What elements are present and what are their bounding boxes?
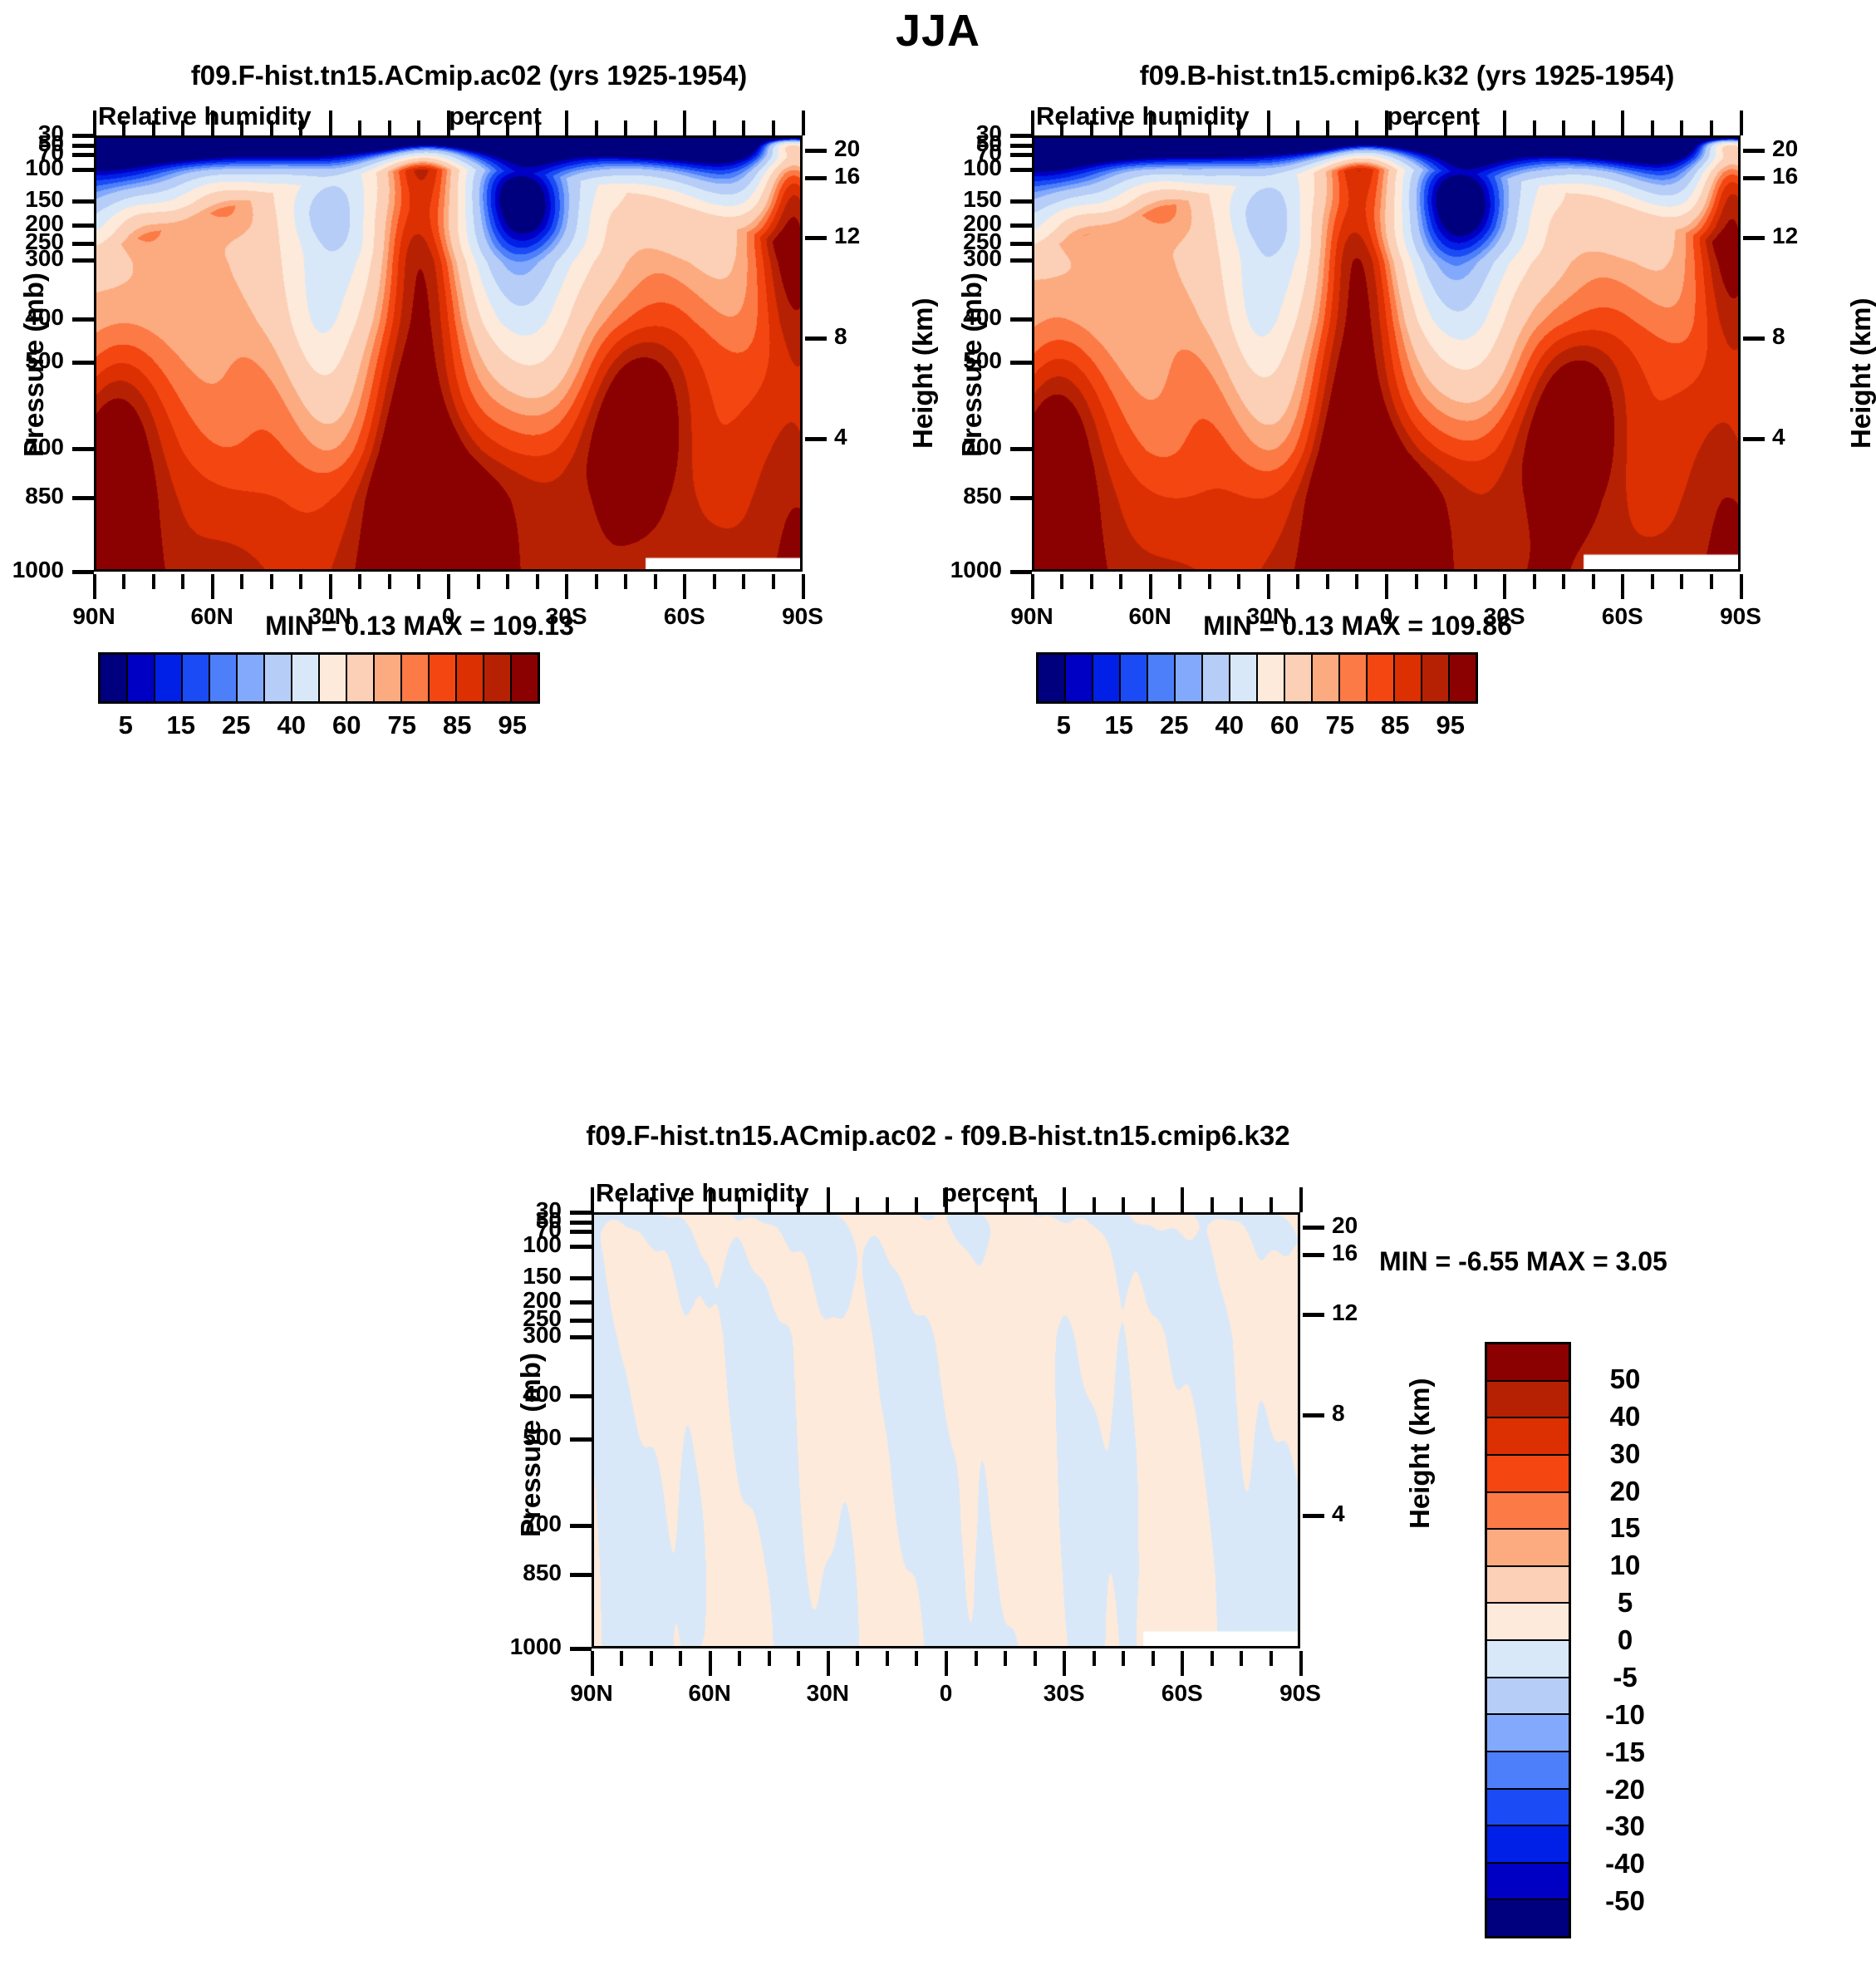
colorbar-cell[interactable] bbox=[1203, 655, 1230, 701]
bottom-tick bbox=[768, 1651, 771, 1666]
panel-right-variable-label: Relative humidity bbox=[1036, 101, 1250, 131]
top-tick bbox=[240, 120, 243, 135]
top-tick bbox=[1208, 120, 1211, 135]
bottom-tick bbox=[1562, 574, 1565, 589]
colorbar-cell[interactable] bbox=[101, 655, 128, 701]
top-tick bbox=[742, 120, 745, 135]
bottom-tick bbox=[654, 574, 657, 589]
latitude-tick-label: 60S bbox=[1124, 1682, 1240, 1705]
colorbar-cell[interactable] bbox=[1487, 1864, 1569, 1901]
pressure-tick bbox=[570, 1300, 592, 1304]
top-tick bbox=[1093, 1197, 1096, 1212]
colorbar-cell[interactable] bbox=[1487, 1456, 1569, 1493]
panel-right-colorbar[interactable] bbox=[1036, 652, 1478, 704]
top-tick bbox=[856, 1197, 859, 1212]
pressure-tick bbox=[72, 361, 94, 365]
bottom-tick bbox=[1444, 574, 1447, 589]
top-tick bbox=[1063, 1187, 1066, 1212]
colorbar-tick-label: 75 bbox=[1326, 710, 1354, 740]
pressure-tick bbox=[72, 144, 94, 148]
panel-left-variable-label: Relative humidity bbox=[98, 101, 312, 131]
height-tick-label: 8 bbox=[1772, 325, 1785, 348]
bottom-tick bbox=[211, 574, 214, 599]
panel-left-units-label: percent bbox=[449, 101, 542, 131]
top-tick bbox=[1031, 111, 1034, 135]
pressure-tick-label: 150 bbox=[0, 188, 64, 211]
top-tick bbox=[1296, 120, 1299, 135]
colorbar-cell[interactable] bbox=[484, 655, 512, 701]
bottom-tick bbox=[591, 1651, 594, 1676]
colorbar-cell[interactable] bbox=[183, 655, 210, 701]
panel-right-yaxis-title: Pressure (mb) bbox=[956, 273, 988, 457]
colorbar-tick-label: 95 bbox=[498, 710, 527, 740]
pressure-tick bbox=[1010, 144, 1032, 148]
bottom-tick bbox=[1004, 1651, 1007, 1666]
latitude-tick-label: 90N bbox=[533, 1682, 650, 1705]
height-tick-label: 4 bbox=[834, 425, 847, 449]
panel-left-colorbar[interactable] bbox=[98, 652, 540, 704]
latitude-tick-label: 0 bbox=[888, 1682, 1004, 1705]
panel-left-minmax: MIN = 0.13 MAX = 109.13 bbox=[0, 611, 839, 641]
colorbar-tick-label: 85 bbox=[443, 710, 471, 740]
bottom-tick bbox=[240, 574, 243, 589]
pressure-tick bbox=[72, 570, 94, 574]
panel-difference-units-label: percent bbox=[941, 1178, 1034, 1208]
top-tick bbox=[1680, 120, 1683, 135]
pressure-tick bbox=[1010, 258, 1032, 263]
latitude-tick-label: 90S bbox=[1242, 1682, 1358, 1705]
top-tick bbox=[358, 120, 361, 135]
height-tick-label: 4 bbox=[1772, 425, 1785, 449]
colorbar-cell[interactable] bbox=[1487, 1752, 1569, 1790]
pressure-tick bbox=[570, 1319, 592, 1323]
top-tick bbox=[1651, 120, 1654, 135]
top-tick bbox=[506, 120, 509, 135]
colorbar-tick-label: -15 bbox=[1579, 1737, 1671, 1768]
colorbar-cell[interactable] bbox=[128, 655, 155, 701]
top-tick bbox=[772, 120, 775, 135]
colorbar-cell[interactable] bbox=[1487, 1826, 1569, 1864]
colorbar-cell[interactable] bbox=[1093, 655, 1121, 701]
panel-difference-y2axis-title: Height (km) bbox=[1404, 1378, 1436, 1530]
height-tick-label: 16 bbox=[1332, 1241, 1358, 1265]
bottom-tick bbox=[1149, 574, 1152, 599]
colorbar-tick-label: 15 bbox=[167, 710, 195, 740]
bottom-tick bbox=[1208, 574, 1211, 589]
top-tick bbox=[945, 1187, 948, 1212]
colorbar-cell[interactable] bbox=[430, 655, 457, 701]
pressure-tick bbox=[570, 1647, 592, 1651]
top-tick bbox=[709, 1187, 712, 1212]
pressure-tick bbox=[570, 1276, 592, 1280]
bottom-tick bbox=[827, 1651, 830, 1676]
top-tick bbox=[1152, 1197, 1155, 1212]
top-tick bbox=[654, 120, 657, 135]
height-tick bbox=[1743, 149, 1765, 153]
bottom-tick bbox=[1152, 1651, 1155, 1666]
bottom-tick bbox=[1034, 1651, 1037, 1666]
top-tick bbox=[802, 111, 805, 135]
height-tick-label: 16 bbox=[1772, 165, 1798, 188]
panel-right-contour-canvas bbox=[1034, 138, 1741, 572]
bottom-tick bbox=[683, 574, 686, 599]
panel-right-y2axis-title: Height (km) bbox=[1845, 298, 1876, 450]
colorbar-tick-label: 60 bbox=[1270, 710, 1299, 740]
bottom-tick bbox=[1122, 1651, 1125, 1666]
panel-right-minmax: MIN = 0.13 MAX = 109.86 bbox=[938, 611, 1777, 641]
bottom-tick bbox=[624, 574, 627, 589]
colorbar-cell[interactable] bbox=[512, 655, 538, 701]
top-tick bbox=[738, 1197, 741, 1212]
top-tick bbox=[565, 111, 568, 135]
top-tick bbox=[417, 120, 420, 135]
top-tick bbox=[122, 120, 125, 135]
colorbar-cell[interactable] bbox=[1487, 1604, 1569, 1641]
colorbar-cell[interactable] bbox=[292, 655, 320, 701]
height-tick-label: 8 bbox=[834, 325, 847, 348]
top-tick bbox=[93, 111, 96, 135]
height-tick bbox=[805, 149, 827, 153]
bottom-tick bbox=[1474, 574, 1477, 589]
panel-difference-minmax: MIN = -6.55 MAX = 3.05 bbox=[1379, 1246, 1861, 1277]
pressure-tick bbox=[72, 317, 94, 322]
pressure-tick bbox=[570, 1230, 592, 1234]
colorbar-cell[interactable] bbox=[1487, 1900, 1569, 1936]
colorbar-cell[interactable] bbox=[1487, 1567, 1569, 1604]
panel-right-units-label: percent bbox=[1387, 101, 1480, 131]
pressure-tick bbox=[1010, 496, 1032, 500]
latitude-tick-label: 60N bbox=[651, 1682, 768, 1705]
top-tick bbox=[1299, 1187, 1303, 1212]
bottom-tick bbox=[802, 574, 805, 599]
colorbar-tick-label: -50 bbox=[1579, 1885, 1671, 1917]
colorbar-tick-label: 5 bbox=[1057, 710, 1071, 740]
bottom-tick bbox=[620, 1651, 623, 1666]
bottom-tick bbox=[1296, 574, 1299, 589]
top-tick bbox=[1178, 120, 1181, 135]
pressure-tick bbox=[72, 258, 94, 263]
colorbar-cell[interactable] bbox=[375, 655, 402, 701]
pressure-tick bbox=[72, 168, 94, 172]
colorbar-tick-label: 50 bbox=[1579, 1363, 1671, 1395]
bottom-tick bbox=[1710, 574, 1713, 589]
colorbar-tick-label: 5 bbox=[119, 710, 133, 740]
panel-difference-title: f09.F-hist.tn15.ACmip.ac02 - f09.B-hist.… bbox=[0, 1120, 1876, 1152]
bottom-tick bbox=[506, 574, 509, 589]
colorbar-cell[interactable] bbox=[1422, 655, 1450, 701]
bottom-tick bbox=[975, 1651, 978, 1666]
bottom-tick bbox=[650, 1651, 653, 1666]
height-tick-label: 20 bbox=[834, 137, 860, 160]
colorbar-tick-label: 30 bbox=[1579, 1438, 1671, 1470]
pressure-tick bbox=[1010, 199, 1032, 204]
latitude-tick-label: 30N bbox=[769, 1682, 886, 1705]
pressure-tick bbox=[72, 224, 94, 228]
panel-left-title: f09.F-hist.tn15.ACmip.ac02 (yrs 1925-195… bbox=[0, 60, 938, 91]
bottom-tick bbox=[1267, 574, 1270, 599]
bottom-tick bbox=[152, 574, 155, 589]
pressure-tick bbox=[570, 1437, 592, 1442]
panel-right-plot-area bbox=[1032, 135, 1741, 572]
pressure-tick bbox=[1010, 317, 1032, 322]
colorbar-cell[interactable] bbox=[1039, 655, 1066, 701]
bottom-tick bbox=[1090, 574, 1093, 589]
bottom-tick bbox=[1651, 574, 1654, 589]
height-tick bbox=[805, 437, 827, 441]
top-tick bbox=[1090, 120, 1093, 135]
latitude-tick-label: 30S bbox=[1006, 1682, 1122, 1705]
panel-difference-yaxis-title: Pressure (mb) bbox=[515, 1353, 547, 1537]
height-tick bbox=[1303, 1313, 1324, 1317]
colorbar-cell[interactable] bbox=[1313, 655, 1340, 701]
pressure-tick-label: 150 bbox=[442, 1265, 562, 1288]
top-tick bbox=[299, 120, 302, 135]
top-tick bbox=[1385, 111, 1388, 135]
page-title: JJA bbox=[0, 0, 1876, 57]
pressure-tick-label: 850 bbox=[882, 484, 1002, 508]
top-tick bbox=[1004, 1197, 1007, 1212]
colorbar-tick-label: 5 bbox=[1579, 1587, 1671, 1619]
panel-right: f09.B-hist.tn15.cmip6.k32 (yrs 1925-1954… bbox=[938, 50, 1876, 1130]
top-tick bbox=[1444, 120, 1447, 135]
bottom-tick bbox=[679, 1651, 682, 1666]
top-tick bbox=[1269, 1197, 1273, 1212]
top-tick bbox=[388, 120, 391, 135]
colorbar-tick-label: 40 bbox=[1579, 1401, 1671, 1432]
pressure-tick-label: 850 bbox=[0, 484, 64, 508]
panel-right-title: f09.B-hist.tn15.cmip6.k32 (yrs 1925-1954… bbox=[938, 60, 1876, 91]
bottom-tick bbox=[565, 574, 568, 599]
top-tick bbox=[975, 1197, 978, 1212]
bottom-tick bbox=[536, 574, 539, 589]
colorbar-cell[interactable] bbox=[1487, 1382, 1569, 1419]
pressure-tick bbox=[72, 447, 94, 451]
pressure-tick bbox=[1010, 447, 1032, 451]
top-tick bbox=[181, 120, 184, 135]
colorbar-cell[interactable] bbox=[1450, 655, 1476, 701]
pressure-tick-label: 300 bbox=[442, 1324, 562, 1347]
bottom-tick bbox=[797, 1651, 800, 1666]
colorbar-tick-label: 10 bbox=[1579, 1550, 1671, 1581]
bottom-tick bbox=[477, 574, 480, 589]
bottom-tick bbox=[447, 574, 450, 599]
colorbar-cell[interactable] bbox=[1487, 1344, 1569, 1382]
pressure-tick-label: 1000 bbox=[442, 1635, 562, 1658]
bottom-tick bbox=[738, 1651, 741, 1666]
top-tick bbox=[1181, 1187, 1184, 1212]
top-tick bbox=[650, 1197, 653, 1212]
colorbar-tick-label: 40 bbox=[1215, 710, 1244, 740]
top-tick bbox=[1034, 1197, 1037, 1212]
colorbar-tick-label: 75 bbox=[388, 710, 416, 740]
top-tick bbox=[1237, 120, 1240, 135]
pressure-tick bbox=[570, 1221, 592, 1225]
bottom-tick bbox=[1592, 574, 1595, 589]
top-tick bbox=[1119, 120, 1122, 135]
top-tick bbox=[270, 120, 273, 135]
colorbar-cell[interactable] bbox=[1230, 655, 1258, 701]
colorbar-cell[interactable] bbox=[1258, 655, 1285, 701]
colorbar-cell[interactable] bbox=[265, 655, 292, 701]
top-tick bbox=[1149, 111, 1152, 135]
bottom-tick bbox=[299, 574, 302, 589]
colorbar-tick-label: -20 bbox=[1579, 1774, 1671, 1806]
pressure-tick bbox=[1010, 242, 1032, 246]
colorbar-tick-label: -5 bbox=[1579, 1662, 1671, 1693]
colorbar-cell[interactable] bbox=[1176, 655, 1203, 701]
height-tick bbox=[805, 236, 827, 240]
colorbar-cell[interactable] bbox=[1487, 1493, 1569, 1530]
bottom-tick bbox=[1533, 574, 1536, 589]
top-tick bbox=[329, 111, 332, 135]
bottom-tick bbox=[709, 1651, 712, 1676]
colorbar-cell[interactable] bbox=[347, 655, 375, 701]
pressure-tick bbox=[1010, 134, 1032, 138]
colorbar-tick-label: -10 bbox=[1579, 1699, 1671, 1731]
pressure-tick bbox=[1010, 153, 1032, 157]
colorbar-tick-label: 95 bbox=[1436, 710, 1465, 740]
panel-difference-colorbar-labels: 50403020151050-5-10-15-20-30-40-50 bbox=[1579, 1342, 1712, 1938]
colorbar-cell[interactable] bbox=[1395, 655, 1422, 701]
colorbar-tick-label: -40 bbox=[1579, 1848, 1671, 1879]
top-tick bbox=[1503, 111, 1506, 135]
height-tick bbox=[1303, 1514, 1324, 1518]
colorbar-cell[interactable] bbox=[210, 655, 238, 701]
bottom-tick bbox=[388, 574, 391, 589]
pressure-tick bbox=[1010, 570, 1032, 574]
colorbar-cell[interactable] bbox=[1368, 655, 1395, 701]
pressure-tick bbox=[570, 1245, 592, 1249]
top-tick bbox=[1415, 120, 1418, 135]
bottom-tick bbox=[358, 574, 361, 589]
pressure-tick bbox=[1010, 224, 1032, 228]
top-tick bbox=[679, 1197, 682, 1212]
bottom-tick bbox=[1240, 1651, 1243, 1666]
top-tick bbox=[620, 1197, 623, 1212]
height-tick bbox=[1303, 1253, 1324, 1257]
top-tick bbox=[1355, 120, 1358, 135]
top-tick bbox=[1211, 1197, 1214, 1212]
panel-left-colorbar-labels: 515254060758595 bbox=[98, 710, 540, 744]
panel-difference-variable-label: Relative humidity bbox=[596, 1178, 809, 1208]
top-tick bbox=[1533, 120, 1536, 135]
height-tick-label: 8 bbox=[1332, 1402, 1345, 1425]
colorbar-cell[interactable] bbox=[1487, 1678, 1569, 1716]
panel-left: f09.F-hist.tn15.ACmip.ac02 (yrs 1925-195… bbox=[0, 50, 938, 1130]
top-tick bbox=[1267, 111, 1270, 135]
bottom-tick bbox=[856, 1651, 859, 1666]
bottom-tick bbox=[1299, 1651, 1303, 1676]
height-tick bbox=[805, 176, 827, 180]
bottom-tick bbox=[93, 574, 96, 599]
pressure-tick bbox=[72, 242, 94, 246]
bottom-tick bbox=[742, 574, 745, 589]
bottom-tick bbox=[1326, 574, 1329, 589]
bottom-tick bbox=[1211, 1651, 1214, 1666]
bottom-tick bbox=[1385, 574, 1388, 599]
colorbar-cell[interactable] bbox=[155, 655, 183, 701]
bottom-tick bbox=[417, 574, 420, 589]
pressure-tick-label: 100 bbox=[882, 156, 1002, 179]
panel-right-colorbar-labels: 515254060758595 bbox=[1036, 710, 1478, 744]
top-tick bbox=[1562, 120, 1565, 135]
top-tick bbox=[1740, 111, 1743, 135]
top-tick bbox=[591, 1187, 594, 1212]
height-tick-label: 12 bbox=[1332, 1301, 1358, 1324]
colorbar-cell[interactable] bbox=[1487, 1641, 1569, 1678]
bottom-tick bbox=[1060, 574, 1063, 589]
pressure-tick bbox=[570, 1211, 592, 1215]
pressure-tick bbox=[570, 1335, 592, 1339]
bottom-tick bbox=[1237, 574, 1240, 589]
top-tick bbox=[683, 111, 686, 135]
height-tick bbox=[1303, 1226, 1324, 1230]
bottom-tick bbox=[1740, 574, 1743, 599]
height-tick-label: 12 bbox=[834, 224, 860, 248]
panel-difference-colorbar[interactable] bbox=[1485, 1342, 1571, 1938]
colorbar-cell[interactable] bbox=[1066, 655, 1093, 701]
colorbar-cell[interactable] bbox=[1487, 1715, 1569, 1752]
colorbar-cell[interactable] bbox=[402, 655, 430, 701]
bottom-tick bbox=[915, 1651, 918, 1666]
top-tick bbox=[1621, 111, 1624, 135]
pressure-tick-label: 100 bbox=[442, 1233, 562, 1256]
bottom-tick bbox=[945, 1651, 948, 1676]
pressure-tick bbox=[1010, 168, 1032, 172]
colorbar-cell[interactable] bbox=[238, 655, 265, 701]
pressure-tick bbox=[72, 496, 94, 500]
top-tick bbox=[1240, 1197, 1243, 1212]
colorbar-cell[interactable] bbox=[1340, 655, 1368, 701]
colorbar-cell[interactable] bbox=[457, 655, 484, 701]
colorbar-tick-label: 15 bbox=[1579, 1512, 1671, 1544]
top-tick bbox=[624, 120, 627, 135]
height-tick bbox=[1743, 337, 1765, 341]
bottom-tick bbox=[1269, 1651, 1273, 1666]
bottom-tick bbox=[1178, 574, 1181, 589]
bottom-tick bbox=[713, 574, 716, 589]
top-tick bbox=[447, 111, 450, 135]
top-tick bbox=[152, 120, 155, 135]
panel-difference: f09.F-hist.tn15.ACmip.ac02 - f09.B-hist.… bbox=[0, 1105, 1876, 1978]
bottom-tick bbox=[122, 574, 125, 589]
colorbar-cell[interactable] bbox=[1487, 1530, 1569, 1567]
bottom-tick bbox=[1063, 1651, 1066, 1676]
top-tick bbox=[1326, 120, 1329, 135]
colorbar-cell[interactable] bbox=[1487, 1418, 1569, 1456]
pressure-tick-label: 150 bbox=[882, 188, 1002, 211]
colorbar-tick-label: 40 bbox=[277, 710, 306, 740]
top-tick bbox=[536, 120, 539, 135]
colorbar-cell[interactable] bbox=[1148, 655, 1176, 701]
bottom-tick bbox=[1119, 574, 1122, 589]
top-tick bbox=[768, 1197, 771, 1212]
colorbar-cell[interactable] bbox=[320, 655, 347, 701]
colorbar-cell[interactable] bbox=[1487, 1790, 1569, 1827]
colorbar-tick-label: 15 bbox=[1105, 710, 1133, 740]
bottom-tick bbox=[1355, 574, 1358, 589]
height-tick-label: 20 bbox=[1332, 1214, 1358, 1237]
pressure-tick bbox=[1010, 361, 1032, 365]
bottom-tick bbox=[886, 1651, 889, 1666]
colorbar-cell[interactable] bbox=[1121, 655, 1148, 701]
colorbar-tick-label: -30 bbox=[1579, 1810, 1671, 1842]
pressure-tick-label: 300 bbox=[0, 247, 64, 270]
top-tick bbox=[1060, 120, 1063, 135]
top-tick bbox=[1710, 120, 1713, 135]
bottom-tick bbox=[181, 574, 184, 589]
colorbar-cell[interactable] bbox=[1285, 655, 1313, 701]
